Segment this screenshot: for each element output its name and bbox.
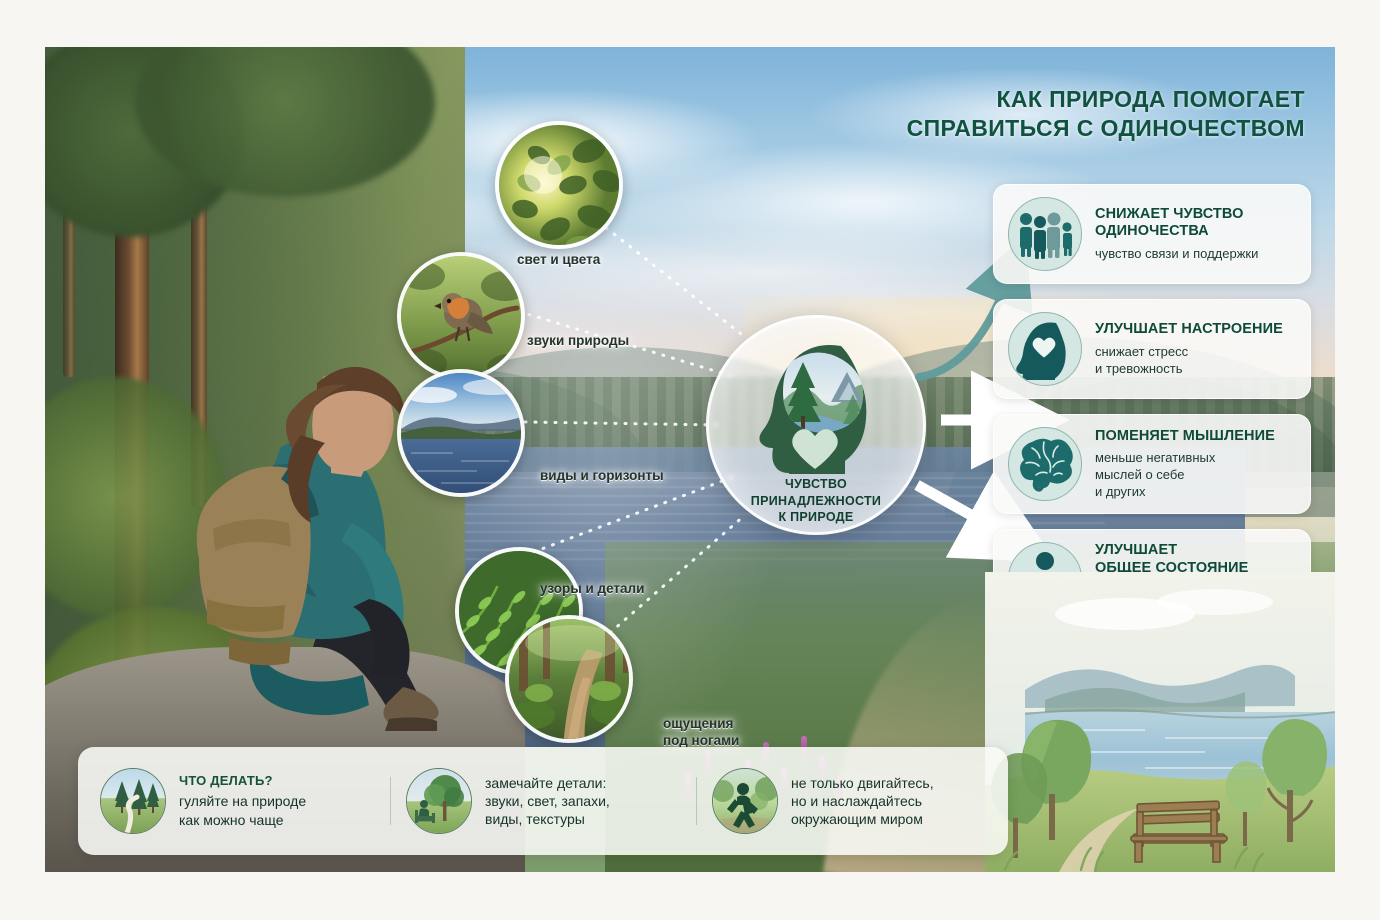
advice-text: замечайте детали: звуки, свет, запахи, в… [485, 774, 610, 829]
sense-label-views: виды и горизонты [540, 467, 664, 484]
advice-text: ЧТО ДЕЛАТЬ? гуляйте на природе как можно… [179, 773, 306, 828]
walking-person-icon [713, 769, 777, 833]
advice-body: не только двигайтесь, но и наслаждайтесь… [791, 774, 934, 829]
sense-circle-underfoot [505, 615, 633, 743]
card-text: СНИЖАЕТ ЧУВСТВО ОДИНОЧЕСТВА чувство связ… [1095, 206, 1296, 262]
sense-circle-views [397, 369, 525, 497]
card-title: УЛУЧШАЕТ НАСТРОЕНИЕ [1095, 321, 1296, 338]
pines-and-path-icon [101, 769, 165, 833]
infographic-canvas: КАК ПРИРОДА ПОМОГАЕТ СПРАВИТЬСЯ С ОДИНОЧ… [45, 47, 1335, 872]
sense-label-sounds: звуки природы [527, 332, 629, 349]
page-title: КАК ПРИРОДА ПОМОГАЕТ СПРАВИТЬСЯ С ОДИНОЧ… [885, 85, 1305, 142]
advice-body: замечайте детали: звуки, свет, запахи, в… [485, 774, 610, 829]
card-desc: чувство связи и поддержки [1095, 245, 1296, 262]
card-icon-wrap [1008, 427, 1082, 501]
card-desc: снижает стресс и тревожность [1095, 343, 1296, 377]
card-icon-wrap [1008, 312, 1082, 386]
head-with-heart-icon [1014, 318, 1076, 380]
hub-caption: ЧУВСТВО ПРИНАДЛЕЖНОСТИ К ПРИРОДЕ [751, 476, 881, 526]
sense-circle-sounds [397, 252, 525, 380]
advice-icon-wrap [100, 768, 166, 834]
sense-label-patterns: узоры и детали [540, 580, 644, 597]
sense-circle-light [495, 121, 623, 249]
sense-label-underfoot: ощущения под ногами [663, 715, 739, 750]
advice-heading: ЧТО ДЕЛАТЬ? [179, 773, 306, 788]
group-of-people-icon [1014, 203, 1076, 265]
advice-icon-wrap [406, 768, 472, 834]
card-text: ПОМЕНЯЕТ МЫШЛЕНИЕ меньше негативных мысл… [1095, 428, 1296, 501]
advice-item-enjoy[interactable]: не только двигайтесь, но и наслаждайтесь… [696, 768, 1002, 834]
benefit-card-thinking[interactable]: ПОМЕНЯЕТ МЫШЛЕНИЕ меньше негативных мысл… [993, 414, 1311, 514]
lake-with-bench-watercolor [985, 572, 1335, 872]
advice-body: гуляйте на природе как можно чаще [179, 792, 306, 828]
person-on-bench-under-tree-icon [407, 769, 471, 833]
card-title: СНИЖАЕТ ЧУВСТВО ОДИНОЧЕСТВА [1095, 206, 1296, 241]
benefit-card-loneliness[interactable]: СНИЖАЕТ ЧУВСТВО ОДИНОЧЕСТВА чувство связ… [993, 184, 1311, 284]
advice-icon-wrap [712, 768, 778, 834]
head-with-nature-and-heart-icon [745, 332, 887, 474]
card-text: УЛУЧШАЕТ НАСТРОЕНИЕ снижает стресс и тре… [1095, 321, 1296, 377]
advice-item-walk[interactable]: ЧТО ДЕЛАТЬ? гуляйте на природе как можно… [84, 768, 390, 834]
card-icon-wrap [1008, 197, 1082, 271]
advice-bar: ЧТО ДЕЛАТЬ? гуляйте на природе как можно… [78, 747, 1008, 855]
sense-label-light: свет и цвета [517, 251, 600, 268]
central-hub: ЧУВСТВО ПРИНАДЛЕЖНОСТИ К ПРИРОДЕ [706, 315, 926, 535]
advice-text: не только двигайтесь, но и наслаждайтесь… [791, 774, 934, 829]
benefit-card-mood[interactable]: УЛУЧШАЕТ НАСТРОЕНИЕ снижает стресс и тре… [993, 299, 1311, 399]
brain-icon [1014, 433, 1076, 495]
advice-item-notice[interactable]: замечайте детали: звуки, свет, запахи, в… [390, 768, 696, 834]
watercolor-scene [985, 572, 1335, 872]
card-desc: меньше негативных мыслей о себе и других [1095, 449, 1296, 500]
card-title: ПОМЕНЯЕТ МЫШЛЕНИЕ [1095, 428, 1296, 445]
